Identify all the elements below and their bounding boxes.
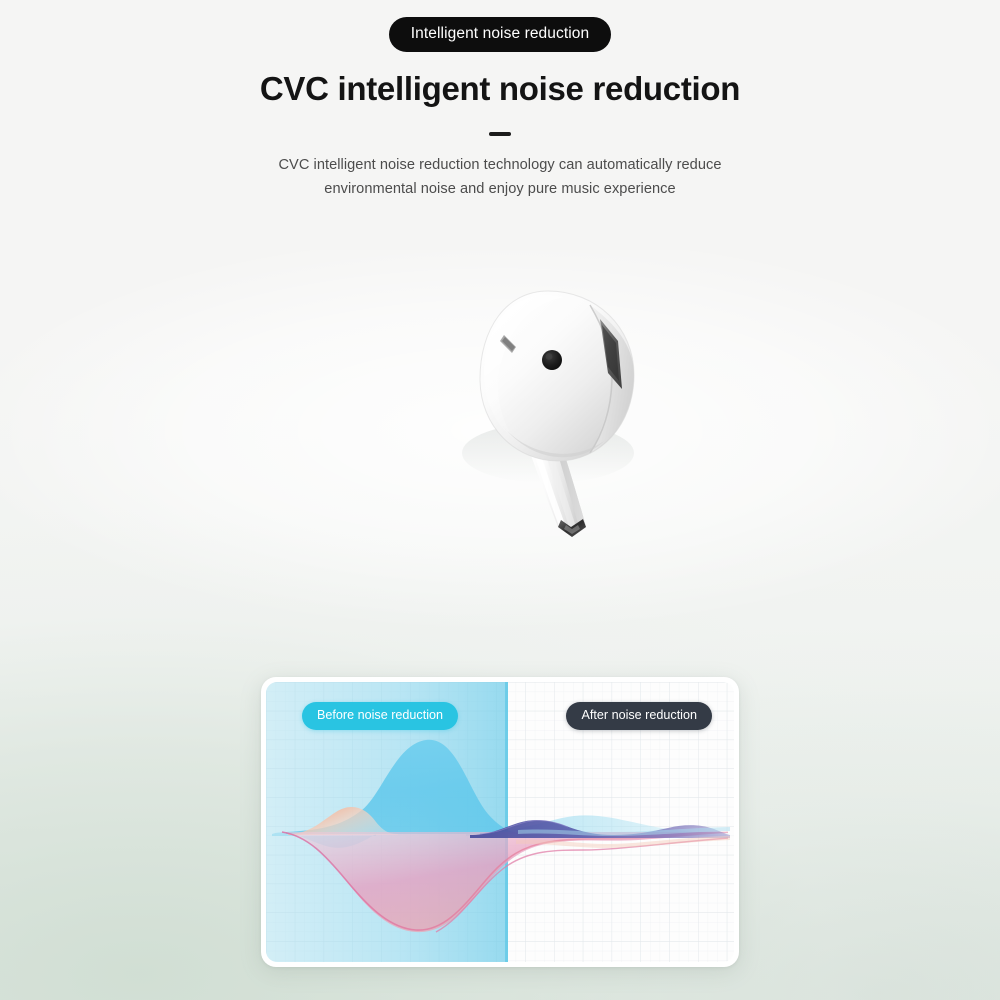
loud-audio-waveform [214, 275, 469, 635]
subtitle-line-1: CVC intelligent noise reduction technolo… [278, 157, 721, 173]
intelligent-noise-reduction-badge: Intelligent noise reduction [389, 17, 611, 52]
before-noise-reduction-tag: Before noise reduction [302, 702, 458, 730]
after-noise-reduction-tag: After noise reduction [566, 702, 712, 730]
earbud-svg [440, 275, 680, 675]
earbud-product-image [440, 275, 680, 675]
noise-comparison-card: Before noise reduction After noise reduc… [261, 677, 739, 967]
earbud-head [480, 291, 634, 461]
marketing-page: Intelligent noise reduction CVC intellig… [0, 0, 1000, 1000]
hero-section [0, 255, 1000, 685]
page-title: CVC intelligent noise reduction [0, 70, 1000, 108]
header-section: Intelligent noise reduction CVC intellig… [0, 0, 1000, 201]
subtitle-line-2: environmental noise and enjoy pure music… [324, 181, 675, 197]
proximity-sensor [542, 350, 562, 370]
dash-divider-icon [489, 132, 511, 136]
page-subtitle: CVC intelligent noise reduction technolo… [250, 154, 750, 201]
card-inner: Before noise reduction After noise reduc… [266, 682, 734, 962]
